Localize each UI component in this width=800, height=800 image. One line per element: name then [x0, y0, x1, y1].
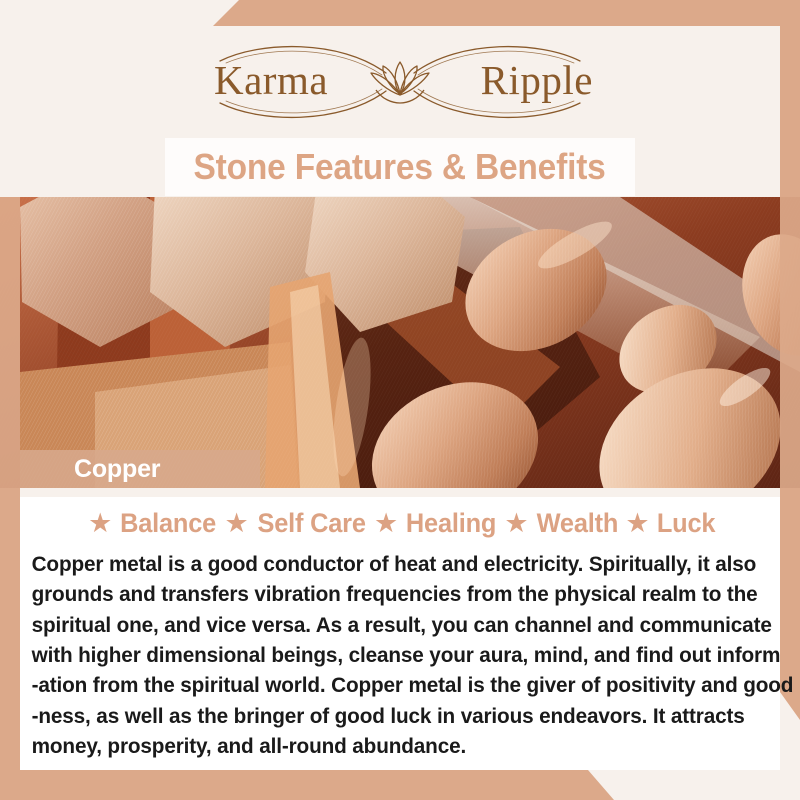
feature-label: Self Care [257, 508, 365, 539]
description-text: Copper metal is a good conductor of heat… [20, 549, 753, 761]
feature-label: Healing [406, 508, 496, 539]
decor-bottom-band [0, 770, 800, 800]
copper-bars-photo [0, 197, 800, 488]
feature-item: ★ Self Care [220, 508, 369, 539]
description-line: spiritual one, and vice versa. As a resu… [32, 610, 736, 640]
hero-image [0, 197, 800, 488]
poster-canvas: Karma Ripple Stone Features & Benefits [0, 0, 800, 800]
star-icon: ★ [625, 510, 649, 537]
feature-label: Wealth [536, 508, 618, 539]
brand-logo: Karma Ripple [190, 33, 610, 129]
feature-item: ★ Wealth [499, 508, 620, 539]
feature-item: ★ Balance [83, 508, 219, 539]
content-panel: ★ Balance ★ Self Care ★ Healing ★ Wealth… [20, 497, 780, 770]
description-line: with higher dimensional beings, cleanse … [32, 640, 736, 670]
star-icon: ★ [225, 510, 249, 537]
page-title: Stone Features & Benefits [194, 146, 606, 188]
description-line: money, prosperity, and all-round abundan… [32, 731, 736, 761]
brand-name-left: Karma [214, 60, 328, 101]
star-icon: ★ [504, 510, 528, 537]
description-line: -ation from the spiritual world. Copper … [32, 670, 736, 700]
description-line: -ness, as well as the bringer of good lu… [32, 701, 736, 731]
hero-right-overlay [780, 197, 800, 488]
star-icon: ★ [88, 510, 112, 537]
section-title-banner: Stone Features & Benefits [165, 138, 635, 196]
description-line: Copper metal is a good conductor of heat… [32, 549, 736, 579]
feature-list: ★ Balance ★ Self Care ★ Healing ★ Wealth… [20, 497, 780, 539]
hero-left-overlay [0, 197, 20, 488]
description-line: grounds and transfers vibration frequenc… [32, 579, 736, 609]
hero-caption-band: Copper [20, 450, 260, 488]
hero-caption-label: Copper [20, 455, 160, 484]
star-icon: ★ [374, 510, 398, 537]
brand-header: Karma Ripple [0, 26, 800, 136]
feature-item: ★ Healing [369, 508, 499, 539]
feature-label: Luck [656, 508, 714, 539]
decor-top-band [0, 0, 800, 26]
feature-item: ★ Luck [620, 508, 716, 539]
feature-label: Balance [120, 508, 216, 539]
brand-name-right: Ripple [481, 60, 593, 101]
